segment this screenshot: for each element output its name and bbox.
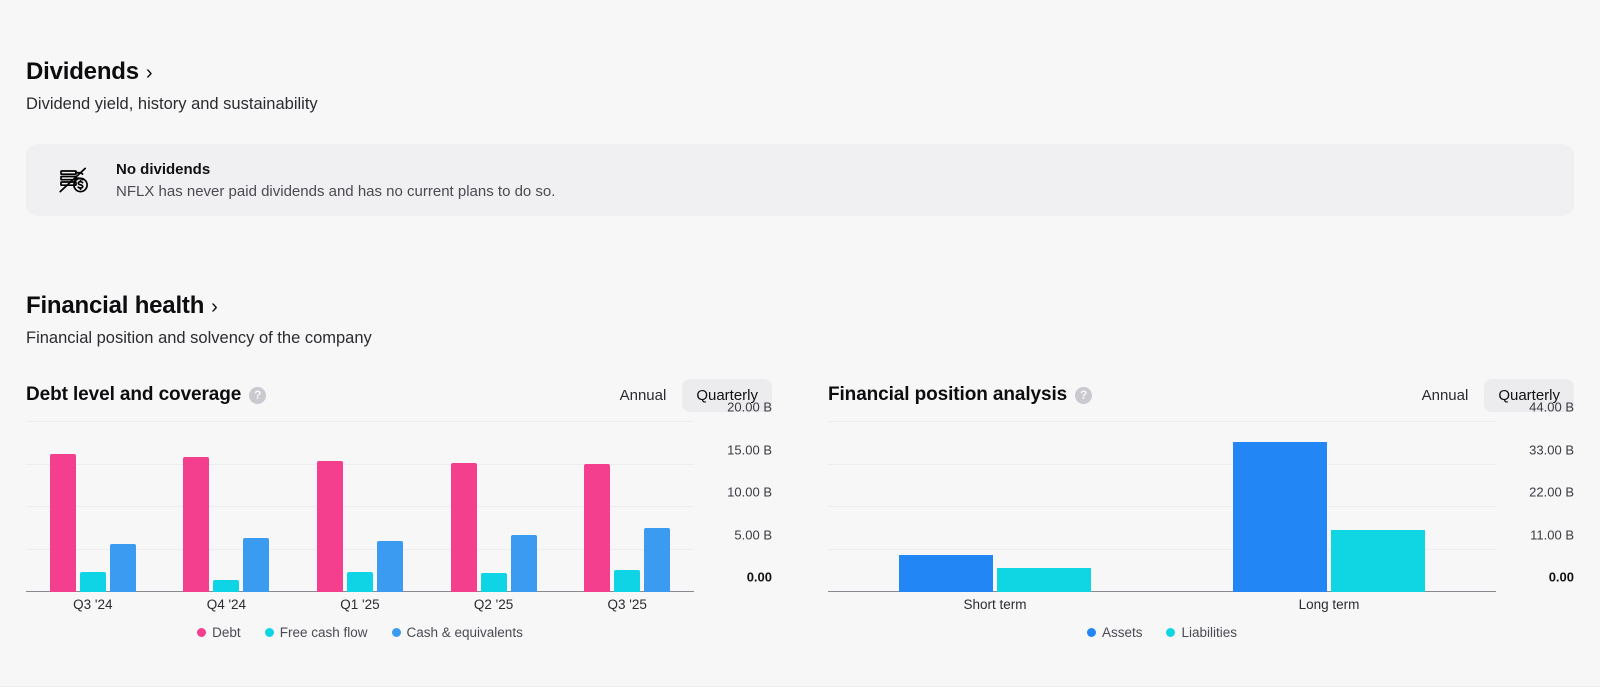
page-root: Dividends › Dividend yield, history and … bbox=[0, 0, 1600, 687]
chevron-right-icon: › bbox=[211, 297, 217, 317]
y-axis-tick-label: 0.00 bbox=[747, 570, 772, 585]
no-dividends-card: No dividends NFLX has never paid dividen… bbox=[26, 144, 1574, 216]
bar-cash-equivalents[interactable] bbox=[511, 535, 537, 592]
dividends-subtitle: Dividend yield, history and sustainabili… bbox=[26, 95, 1574, 114]
bar-cash-equivalents[interactable] bbox=[243, 538, 269, 592]
bar-group bbox=[293, 422, 427, 592]
bars bbox=[1162, 422, 1496, 592]
help-icon[interactable]: ? bbox=[249, 387, 266, 404]
legend-item[interactable]: Free cash flow bbox=[265, 625, 368, 640]
chart-title-label: Debt level and coverage bbox=[26, 384, 241, 406]
bars bbox=[26, 422, 160, 592]
no-dividends-text: No dividends NFLX has never paid dividen… bbox=[116, 161, 555, 200]
bar-cash-equivalents[interactable] bbox=[110, 544, 136, 592]
legend-item[interactable]: Debt bbox=[197, 625, 241, 640]
x-axis-tick-label: Q3 '24 bbox=[26, 593, 160, 617]
plot-area: 0.005.00 B10.00 B15.00 B20.00 BQ3 '24Q4 … bbox=[26, 422, 772, 617]
bars bbox=[828, 422, 1162, 592]
bar-free-cash-flow[interactable] bbox=[80, 572, 106, 592]
bar-group bbox=[560, 422, 694, 592]
charts-row: Debt level and coverage?AnnualQuarterly0… bbox=[26, 380, 1574, 640]
x-axis-tick-label: Q4 '24 bbox=[160, 593, 294, 617]
bar-free-cash-flow[interactable] bbox=[481, 573, 507, 592]
chart-card-financial-position-analysis: Financial position analysis?AnnualQuarte… bbox=[828, 380, 1574, 640]
bar-debt[interactable] bbox=[317, 461, 343, 592]
bar-group bbox=[828, 422, 1162, 592]
y-axis-tick-label: 5.00 B bbox=[734, 527, 772, 542]
legend-item[interactable]: Liabilities bbox=[1166, 625, 1237, 640]
y-axis-tick-label: 33.00 B bbox=[1529, 442, 1574, 457]
chevron-right-icon: › bbox=[146, 63, 152, 83]
y-axis-tick-label: 15.00 B bbox=[727, 442, 772, 457]
chart-legend: DebtFree cash flowCash & equivalents bbox=[26, 625, 772, 640]
bars bbox=[293, 422, 427, 592]
bar-liabilities[interactable] bbox=[997, 568, 1091, 592]
chart-legend: AssetsLiabilities bbox=[828, 625, 1574, 640]
x-axis-tick-label: Long term bbox=[1162, 593, 1496, 617]
y-axis-tick-label: 10.00 B bbox=[727, 485, 772, 500]
bar-debt[interactable] bbox=[584, 464, 610, 592]
legend-color-dot bbox=[1087, 628, 1096, 637]
chart-header: Debt level and coverage?AnnualQuarterly bbox=[26, 380, 772, 410]
legend-label: Free cash flow bbox=[280, 625, 368, 640]
financial-health-subtitle: Financial position and solvency of the c… bbox=[26, 329, 1574, 348]
x-axis-tick-label: Q3 '25 bbox=[560, 593, 694, 617]
bar-assets[interactable] bbox=[1233, 442, 1327, 592]
legend-color-dot bbox=[197, 628, 206, 637]
chart-header: Financial position analysis?AnnualQuarte… bbox=[828, 380, 1574, 410]
plot-inner bbox=[828, 422, 1496, 592]
y-axis-labels: 0.005.00 B10.00 B15.00 B20.00 B bbox=[698, 422, 772, 592]
chart-title: Financial position analysis? bbox=[828, 384, 1092, 406]
y-axis-tick-label: 11.00 B bbox=[1530, 527, 1574, 542]
bars bbox=[160, 422, 294, 592]
bar-free-cash-flow[interactable] bbox=[213, 580, 239, 592]
chart-title-label: Financial position analysis bbox=[828, 384, 1067, 406]
bar-debt[interactable] bbox=[451, 463, 477, 592]
legend-label: Debt bbox=[212, 625, 241, 640]
bar-group bbox=[26, 422, 160, 592]
x-axis-tick-label: Short term bbox=[828, 593, 1162, 617]
dividends-heading-label: Dividends bbox=[26, 58, 139, 86]
financial-health-heading[interactable]: Financial health › bbox=[26, 292, 1574, 320]
dividends-section: Dividends › Dividend yield, history and … bbox=[26, 58, 1574, 216]
plot-area: 0.0011.00 B22.00 B33.00 B44.00 BShort te… bbox=[828, 422, 1574, 617]
toggle-annual-button[interactable]: Annual bbox=[1408, 379, 1483, 412]
bar-liabilities[interactable] bbox=[1331, 530, 1425, 592]
legend-item[interactable]: Assets bbox=[1087, 625, 1143, 640]
bar-group bbox=[427, 422, 561, 592]
dividends-heading[interactable]: Dividends › bbox=[26, 58, 1574, 86]
bar-assets[interactable] bbox=[899, 555, 993, 592]
no-dividends-description: NFLX has never paid dividends and has no… bbox=[116, 183, 555, 200]
financial-health-section: Financial health › Financial position an… bbox=[26, 292, 1574, 640]
legend-item[interactable]: Cash & equivalents bbox=[392, 625, 523, 640]
x-axis-tick-label: Q1 '25 bbox=[293, 593, 427, 617]
y-axis-tick-label: 0.00 bbox=[1549, 570, 1574, 585]
bar-group bbox=[1162, 422, 1496, 592]
legend-color-dot bbox=[265, 628, 274, 637]
bars bbox=[560, 422, 694, 592]
bar-free-cash-flow[interactable] bbox=[614, 570, 640, 592]
bar-free-cash-flow[interactable] bbox=[347, 572, 373, 592]
legend-label: Liabilities bbox=[1181, 625, 1237, 640]
y-axis-tick-label: 20.00 B bbox=[727, 400, 772, 415]
y-axis-labels: 0.0011.00 B22.00 B33.00 B44.00 B bbox=[1500, 422, 1574, 592]
legend-color-dot bbox=[1166, 628, 1175, 637]
no-dividends-icon bbox=[54, 160, 94, 200]
bars bbox=[427, 422, 561, 592]
bar-group bbox=[160, 422, 294, 592]
y-axis-tick-label: 22.00 B bbox=[1529, 485, 1574, 500]
chart-title: Debt level and coverage? bbox=[26, 384, 266, 406]
x-axis-labels: Q3 '24Q4 '24Q1 '25Q2 '25Q3 '25 bbox=[26, 593, 694, 617]
legend-color-dot bbox=[392, 628, 401, 637]
help-icon[interactable]: ? bbox=[1075, 387, 1092, 404]
bar-debt[interactable] bbox=[50, 454, 76, 592]
y-axis-tick-label: 44.00 B bbox=[1529, 400, 1574, 415]
legend-label: Cash & equivalents bbox=[407, 625, 523, 640]
legend-label: Assets bbox=[1102, 625, 1143, 640]
x-axis-tick-label: Q2 '25 bbox=[427, 593, 561, 617]
no-dividends-title: No dividends bbox=[116, 161, 555, 178]
toggle-annual-button[interactable]: Annual bbox=[606, 379, 681, 412]
chart-card-debt-level-and-coverage: Debt level and coverage?AnnualQuarterly0… bbox=[26, 380, 772, 640]
x-axis-labels: Short termLong term bbox=[828, 593, 1496, 617]
bar-cash-equivalents[interactable] bbox=[644, 528, 670, 592]
bar-groups bbox=[26, 422, 694, 592]
bar-debt[interactable] bbox=[183, 457, 209, 592]
financial-health-heading-label: Financial health bbox=[26, 292, 204, 320]
bar-cash-equivalents[interactable] bbox=[377, 541, 403, 592]
plot-inner bbox=[26, 422, 694, 592]
bar-groups bbox=[828, 422, 1496, 592]
